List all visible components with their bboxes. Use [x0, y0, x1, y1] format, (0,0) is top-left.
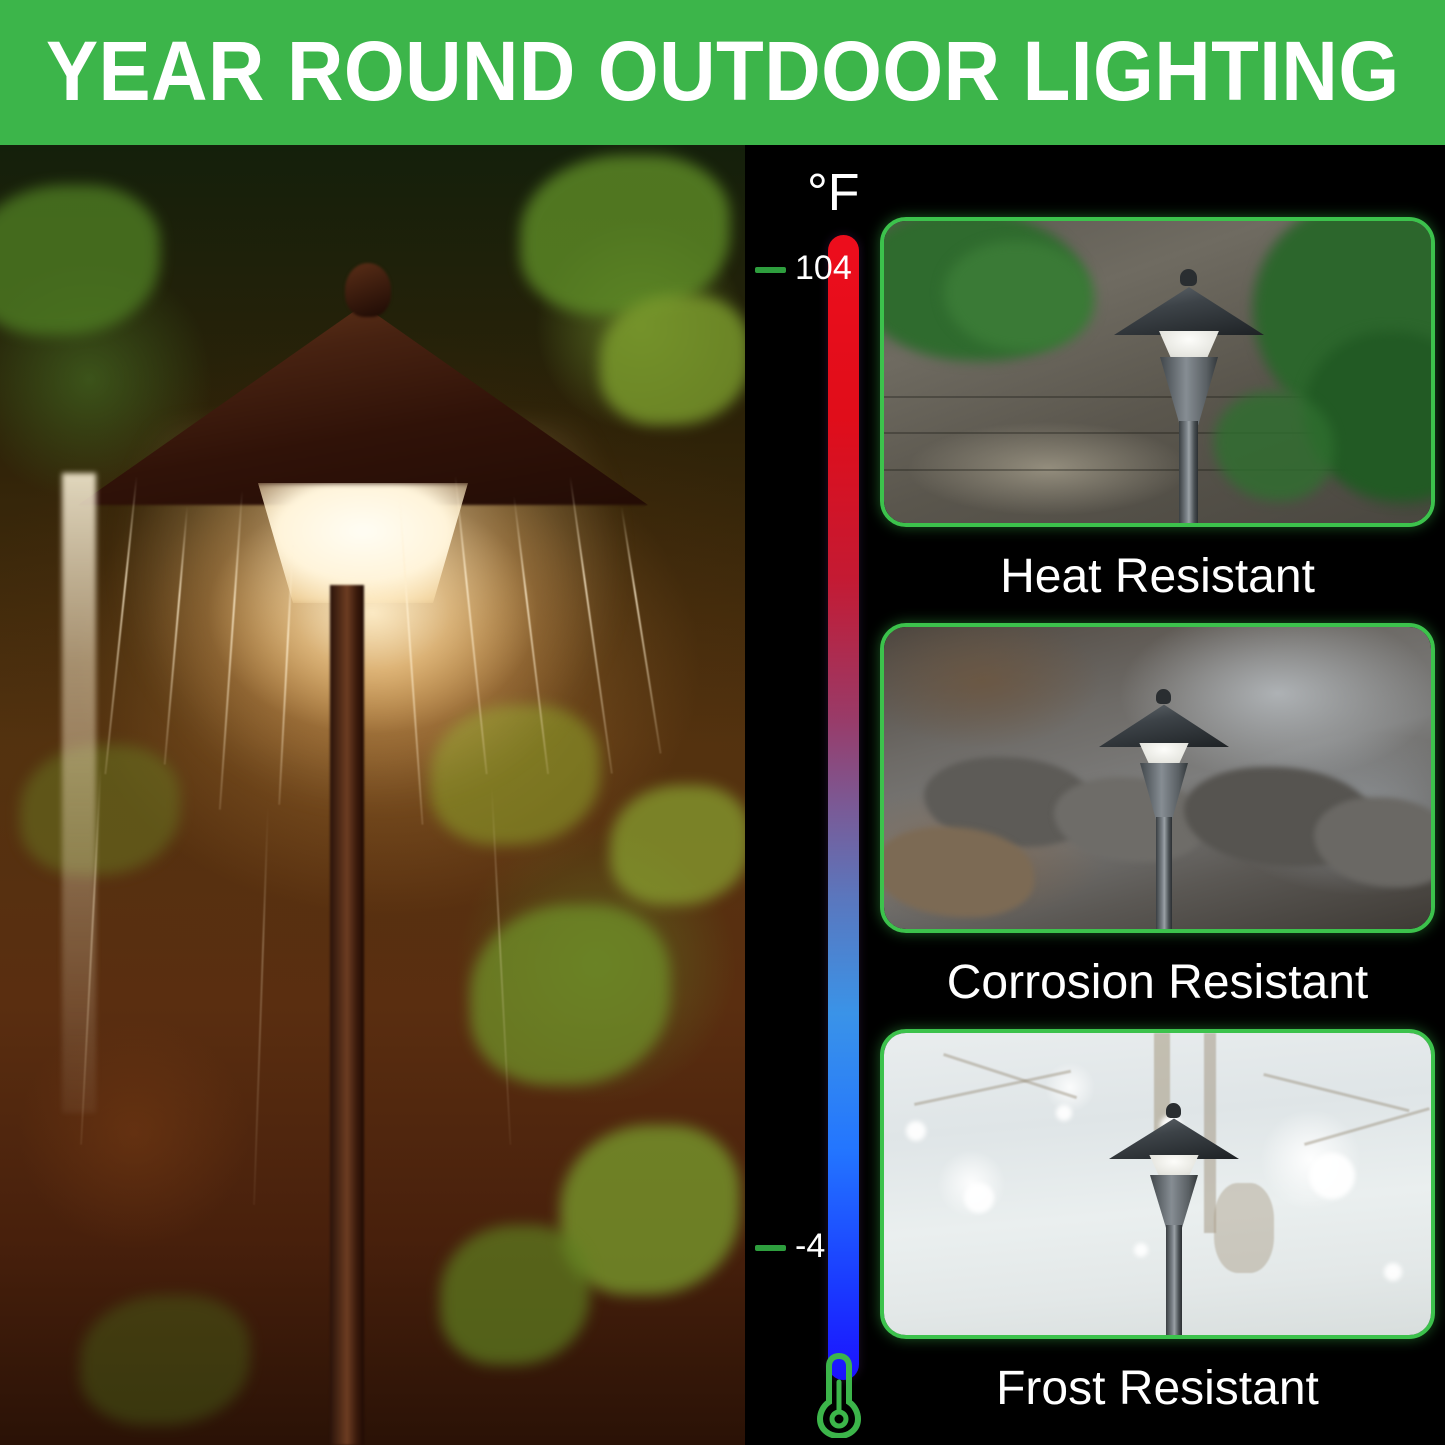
tick-label-high: 104: [795, 251, 852, 285]
temperature-scale: °F 104 -4: [745, 145, 880, 1445]
lamp-stem: [1166, 1225, 1182, 1339]
lamp-shade: [1099, 701, 1229, 747]
feature-label-corrosion: Corrosion Resistant: [880, 959, 1435, 1007]
photo-frame: [880, 623, 1435, 933]
lamp-finial: [1166, 1103, 1181, 1118]
snowy-branch: [1263, 1073, 1409, 1112]
foliage-bokeh: [610, 785, 745, 905]
photo-heat-resistant: [884, 221, 1431, 523]
pathway-light-product: [1114, 269, 1264, 527]
lamp-shade: [1109, 1115, 1239, 1159]
page-title: YEAR ROUND OUTDOOR LIGHTING: [46, 29, 1400, 117]
hero-photo-rain-lamp: IP65 Waterproof: [0, 145, 745, 1445]
lamp-cone: [1160, 357, 1218, 425]
lamp-finial: [1156, 689, 1171, 704]
pathway-light-product: [1099, 689, 1229, 933]
feature-label-frost: Frost Resistant: [880, 1365, 1435, 1413]
feature-card-frost[interactable]: Frost Resistant: [880, 1029, 1445, 1413]
feature-label-heat: Heat Resistant: [880, 553, 1435, 601]
lamp-bulb: [1136, 743, 1192, 765]
feature-card-heat[interactable]: Heat Resistant: [880, 217, 1445, 601]
falling-snow: [1309, 1153, 1355, 1199]
lamp-shade: [1114, 283, 1264, 335]
lamp-bulb: [1146, 1155, 1202, 1177]
tick-mark-low: [755, 1245, 786, 1251]
rock-cluster: [1314, 797, 1435, 887]
lamp-cone: [1140, 763, 1188, 821]
thermometer-icon: [811, 1350, 867, 1438]
foliage-bokeh: [520, 155, 730, 315]
water-stream: [62, 473, 96, 1113]
lamp-finial: [1180, 269, 1197, 286]
tick-label-low: -4: [795, 1229, 825, 1263]
temperature-gradient-bar: [828, 235, 859, 1380]
lamp-finial: [345, 263, 391, 317]
foliage-bokeh: [600, 295, 745, 425]
product-infographic: YEAR ROUND OUTDOOR LIGHTING: [0, 0, 1445, 1445]
foliage-bokeh: [440, 1225, 590, 1365]
falling-snow: [1384, 1263, 1402, 1281]
photo-corrosion-resistant: [884, 627, 1431, 929]
photo-frost-resistant: [884, 1033, 1431, 1335]
lamp-stem: [1179, 421, 1198, 527]
pathway-light-product: [1109, 1103, 1239, 1339]
tick-mark-high: [755, 267, 786, 273]
lamp-stem: [1156, 817, 1172, 933]
feature-card-list: Heat Resistant: [880, 145, 1445, 1445]
photo-frame: [880, 1029, 1435, 1339]
falling-snow: [906, 1121, 926, 1141]
header-banner: YEAR ROUND OUTDOOR LIGHTING: [0, 0, 1445, 145]
lamp-post: [330, 585, 364, 1445]
temperature-unit-label: °F: [807, 167, 860, 219]
lamp-bulb: [1155, 331, 1223, 359]
lamp-cone: [1150, 1175, 1198, 1229]
falling-snow: [1056, 1105, 1072, 1121]
feature-card-corrosion[interactable]: Corrosion Resistant: [880, 623, 1445, 1007]
photo-frame: [880, 217, 1435, 527]
features-panel: °F 104 -4: [745, 145, 1445, 1445]
falling-snow: [964, 1183, 994, 1213]
snowy-branch: [1304, 1107, 1430, 1146]
foliage-bokeh: [80, 1295, 250, 1425]
